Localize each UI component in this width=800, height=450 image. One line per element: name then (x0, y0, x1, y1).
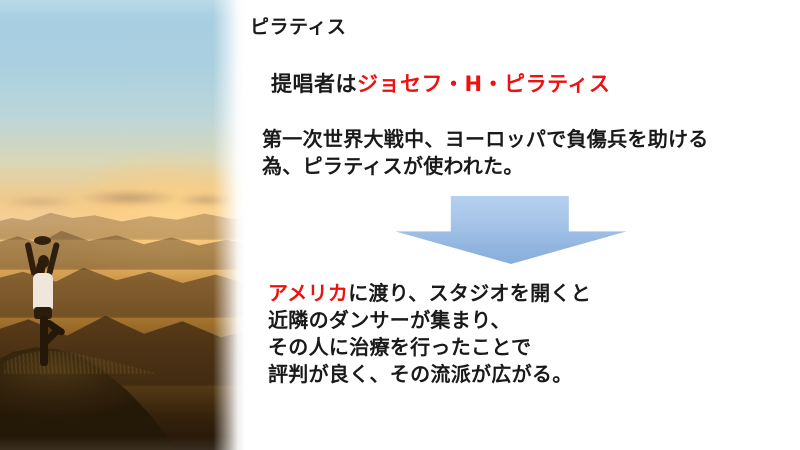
photo-edge-softening (0, 0, 245, 450)
founder-name: ジョセフ・H・ピラティス (357, 72, 610, 96)
founder-label: 提唱者は (271, 72, 357, 96)
yoga-sunset-photo (0, 0, 245, 450)
america-paragraph: アメリカに渡り、スタジオを開くと 近隣のダンサーが集まり、 その人に治療を行った… (268, 280, 591, 388)
founder-line: 提唱者はジョセフ・H・ピラティス (271, 68, 610, 98)
down-arrow-shape (393, 196, 629, 264)
america-line-2: 近隣のダンサーが集まり、 (268, 307, 591, 334)
page-title: ピラティス (250, 12, 346, 39)
america-accent: アメリカ (268, 281, 348, 305)
slide-canvas: ピラティス 提唱者はジョセフ・H・ピラティス 第一次世界大戦中、ヨーロッパで負傷… (0, 0, 800, 450)
down-arrow-icon (393, 196, 629, 264)
history-line-2: 為、ピラティスが使われた。 (262, 153, 709, 180)
america-line-1: アメリカに渡り、スタジオを開くと (268, 280, 591, 307)
america-line-1-rest: に渡り、スタジオを開くと (348, 281, 591, 305)
america-line-4: 評判が良く、その流派が広がる。 (268, 361, 591, 388)
america-line-3: その人に治療を行ったことで (268, 334, 591, 361)
history-paragraph: 第一次世界大戦中、ヨーロッパで負傷兵を助ける 為、ピラティスが使われた。 (262, 126, 709, 180)
history-line-1: 第一次世界大戦中、ヨーロッパで負傷兵を助ける (262, 126, 709, 153)
